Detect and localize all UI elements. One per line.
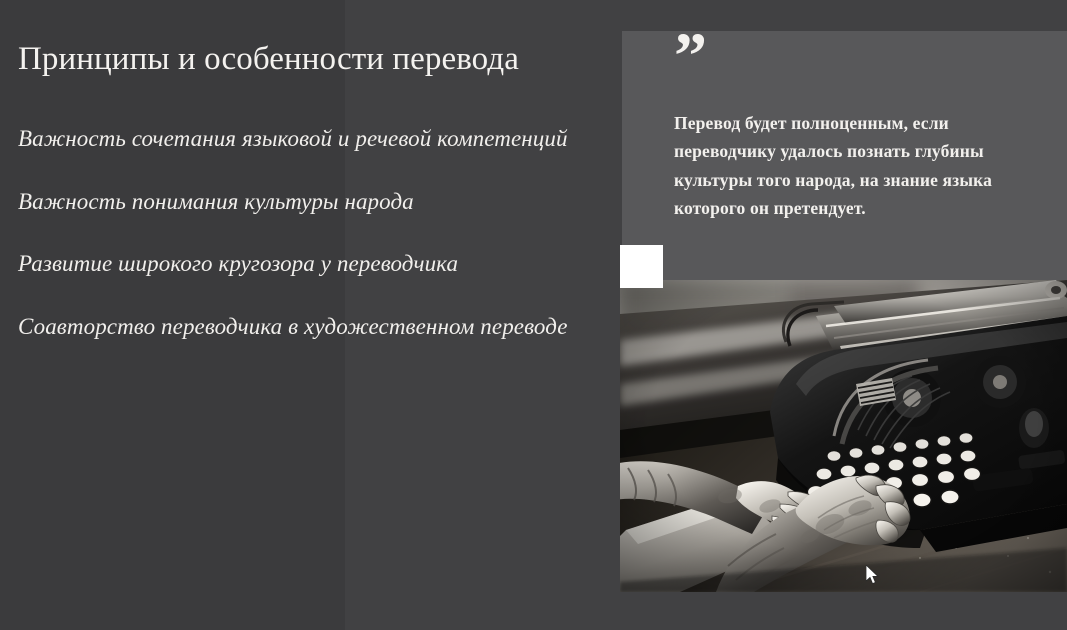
list-item: Развитие широкого кругозора у переводчик… <box>18 248 593 281</box>
accent-square <box>620 245 663 288</box>
typewriter-photo <box>620 280 1067 592</box>
list-item: Важность понимания культуры народа <box>18 186 593 219</box>
list-item: Важность сочетания языковой и речевой ко… <box>18 123 593 156</box>
slide-content-left: Принципы и особенности перевода Важность… <box>18 40 593 344</box>
presentation-slide: Принципы и особенности перевода Важность… <box>0 0 1067 630</box>
quotation-mark-icon: ” <box>674 24 707 90</box>
quote-text: Перевод будет полноценным, если переводч… <box>674 109 1046 222</box>
bullet-list: Важность сочетания языковой и речевой ко… <box>18 123 593 344</box>
page-title: Принципы и особенности перевода <box>18 40 593 79</box>
quote-panel: ” Перевод будет полноценным, если перево… <box>622 31 1067 280</box>
list-item: Соавторство переводчика в художественном… <box>18 311 593 344</box>
